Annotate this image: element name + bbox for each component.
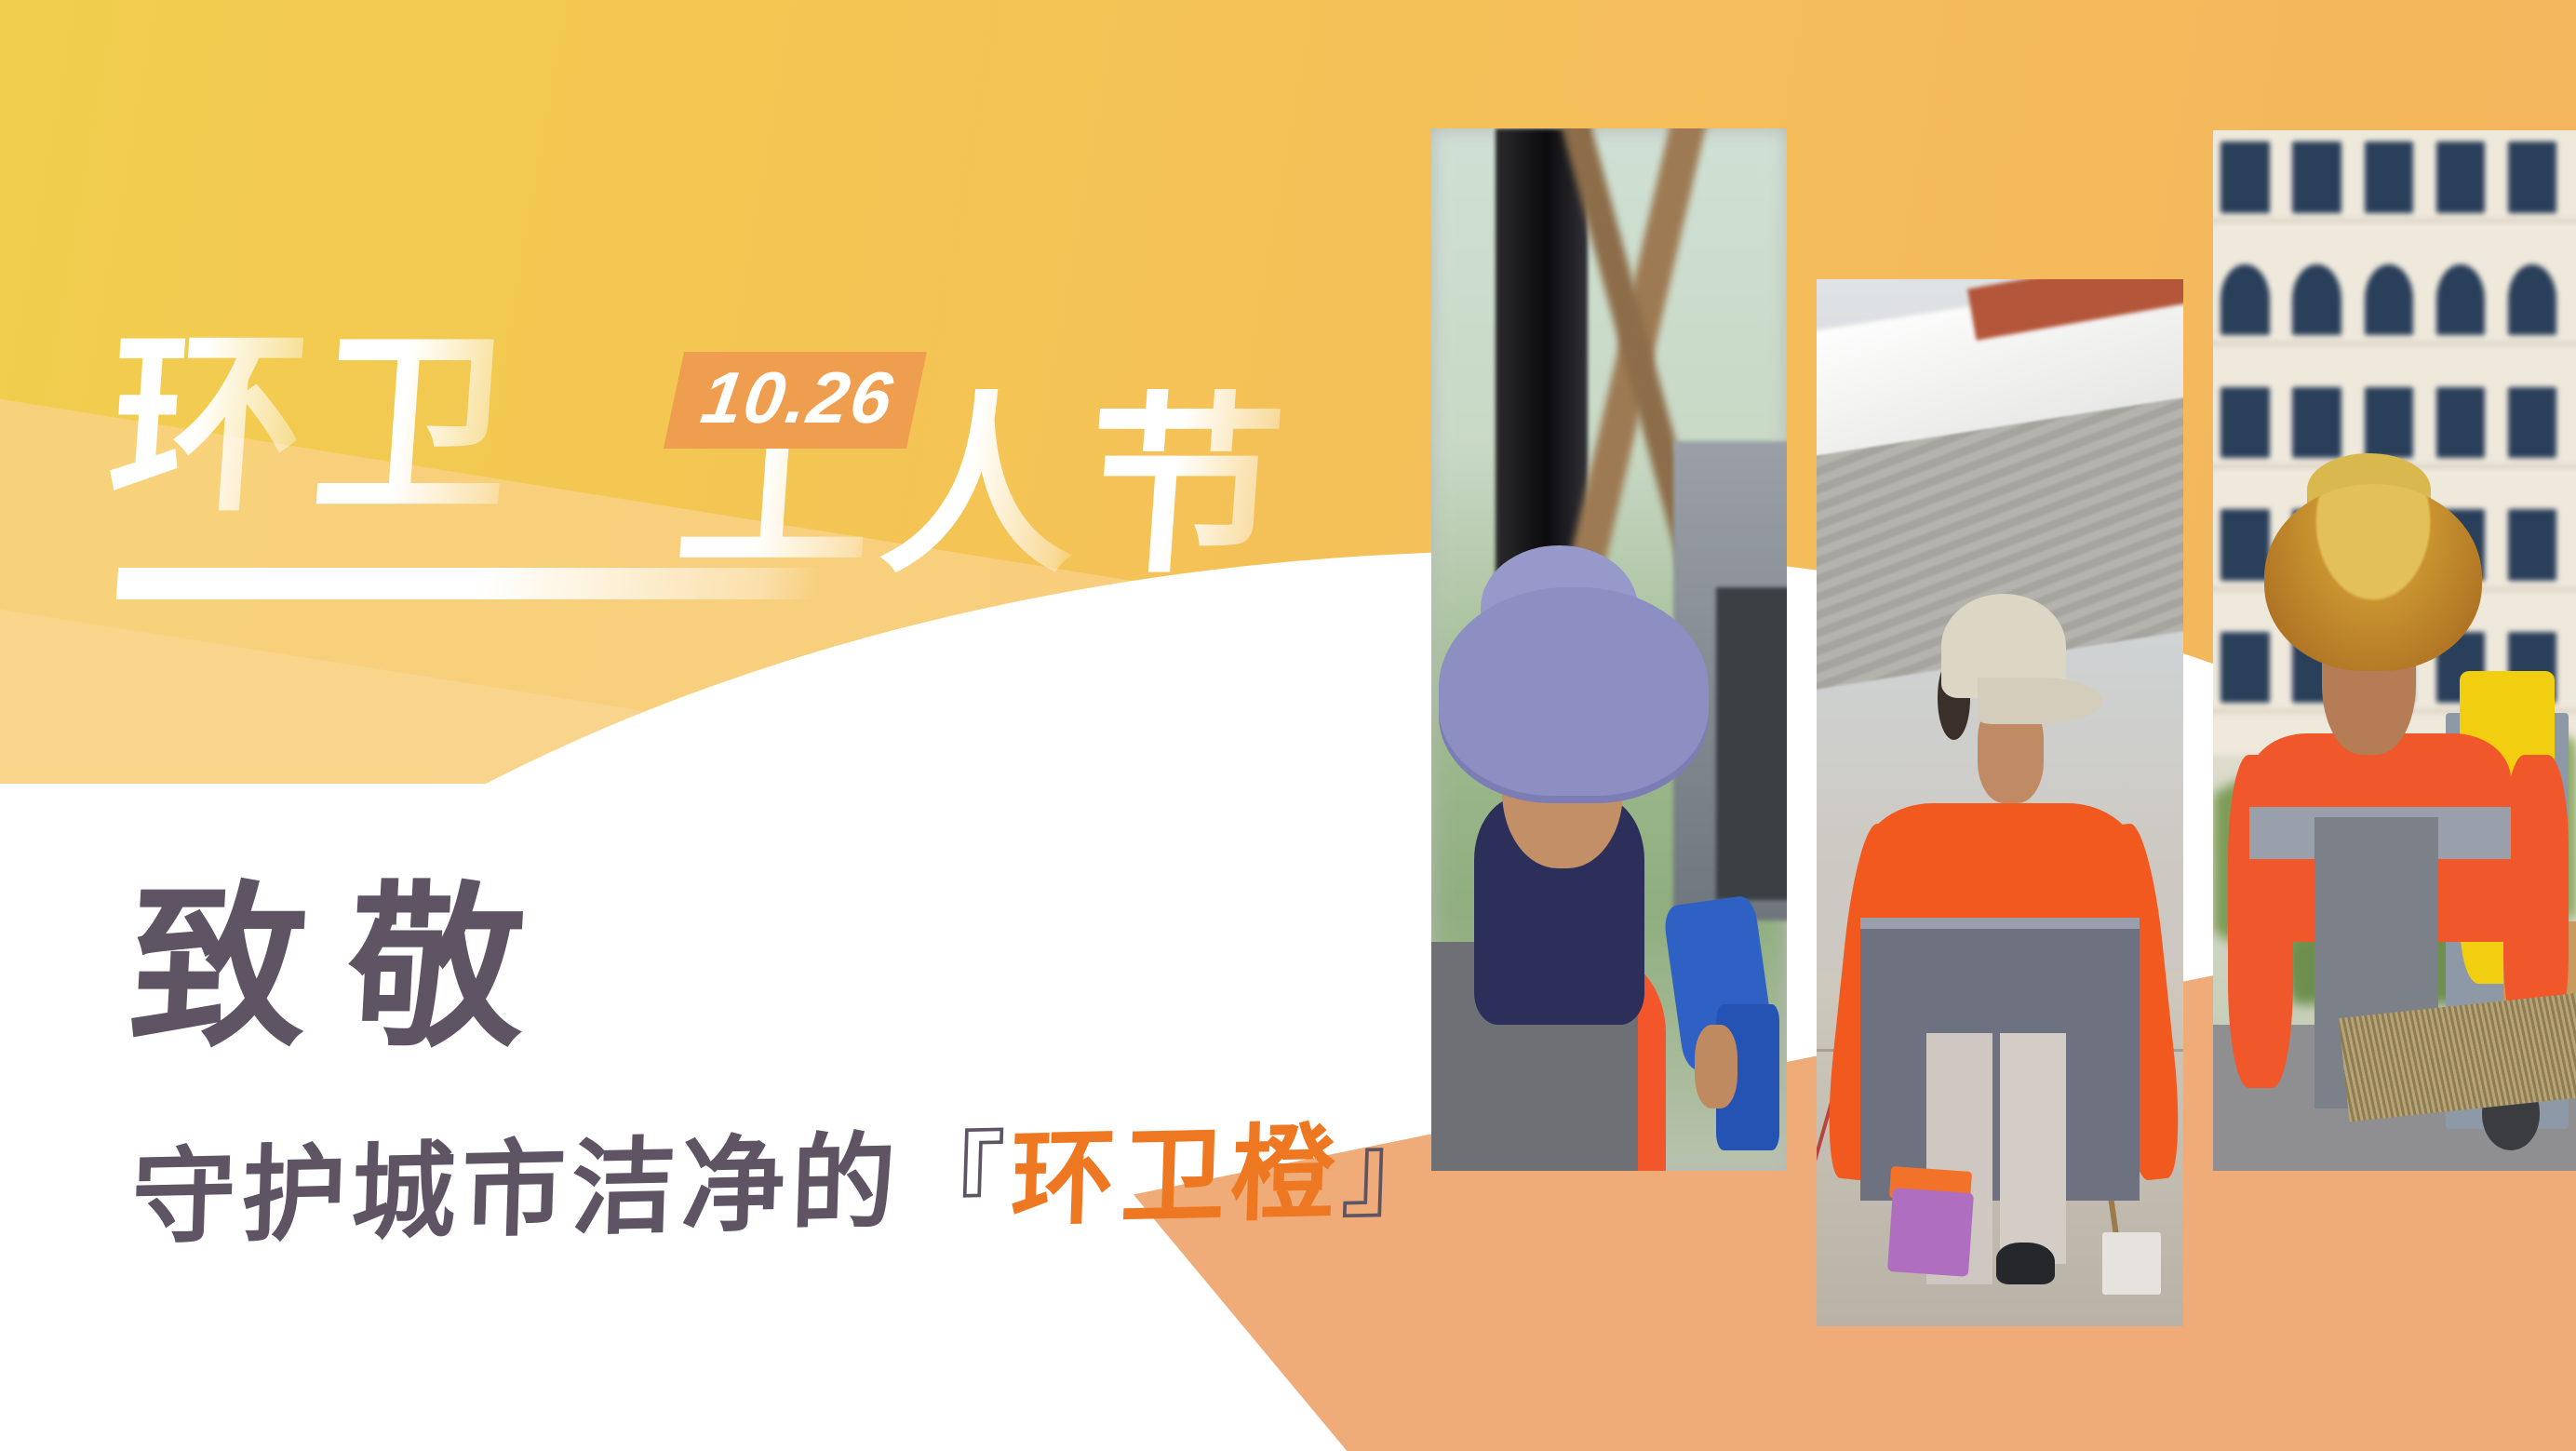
p2-cap-brim xyxy=(1978,678,2102,725)
p3-window xyxy=(2292,387,2341,458)
photo-panel-1 xyxy=(1431,128,1787,1171)
p3-window xyxy=(2220,387,2270,458)
photo-panel-2-scene xyxy=(1817,279,2183,1326)
headline-char-5: 节 xyxy=(1080,389,1299,584)
p2-shoe xyxy=(1996,1243,2055,1284)
photo-panel-2 xyxy=(1817,279,2183,1326)
p3-window xyxy=(2220,264,2270,335)
p3-bamboo-conical-hat xyxy=(2264,484,2482,671)
tribute-heading: 致敬 xyxy=(126,882,570,1059)
p2-trouser-right xyxy=(2000,1033,2066,1264)
p3-window xyxy=(2436,387,2486,458)
p3-window xyxy=(2365,141,2414,212)
date-badge: 10.26 xyxy=(664,352,927,449)
p1-worker-hand xyxy=(1695,1025,1737,1108)
photo-panel-3-scene xyxy=(2213,130,2576,1171)
headline-char-2: 卫 xyxy=(308,328,527,523)
headline-underline-bar xyxy=(116,568,818,599)
p3-window xyxy=(2292,141,2341,212)
subtitle-bracket-open: 『 xyxy=(899,1123,1013,1241)
subtitle-prefix: 守护城市洁净的 xyxy=(129,1126,903,1257)
p3-window xyxy=(2508,264,2557,335)
p1-purple-sun-hat xyxy=(1439,587,1709,796)
photo-panel-3 xyxy=(2213,130,2576,1171)
p3-window xyxy=(2436,264,2486,335)
p3-window xyxy=(2365,264,2414,335)
p3-floor-line xyxy=(2213,342,2576,345)
p3-window xyxy=(2220,509,2270,580)
p3-window xyxy=(2508,141,2557,212)
headline-char-1: 环 xyxy=(103,328,322,523)
p3-window xyxy=(2292,264,2341,335)
date-badge-label: 10.26 xyxy=(697,365,897,432)
p2-litter-pile xyxy=(2102,1232,2161,1296)
p3-window xyxy=(2436,141,2486,212)
p3-window xyxy=(2508,387,2557,458)
subtitle-line: 守护城市洁净的『环卫橙』 xyxy=(130,1120,1453,1252)
p3-floor-line xyxy=(2213,219,2576,222)
photo-panel-1-scene xyxy=(1431,128,1787,1171)
p1-metal-box-dark xyxy=(1716,587,1787,900)
subtitle-accent-text: 环卫橙 xyxy=(1009,1117,1342,1239)
poster-canvas: 环卫工人节 10.26 致敬 守护城市洁净的『环卫橙』 xyxy=(0,0,2576,1451)
p3-window xyxy=(2508,509,2557,580)
p3-window xyxy=(2220,141,2270,212)
p2-purple-broom-head xyxy=(1887,1188,1974,1277)
p3-window xyxy=(2365,387,2414,458)
